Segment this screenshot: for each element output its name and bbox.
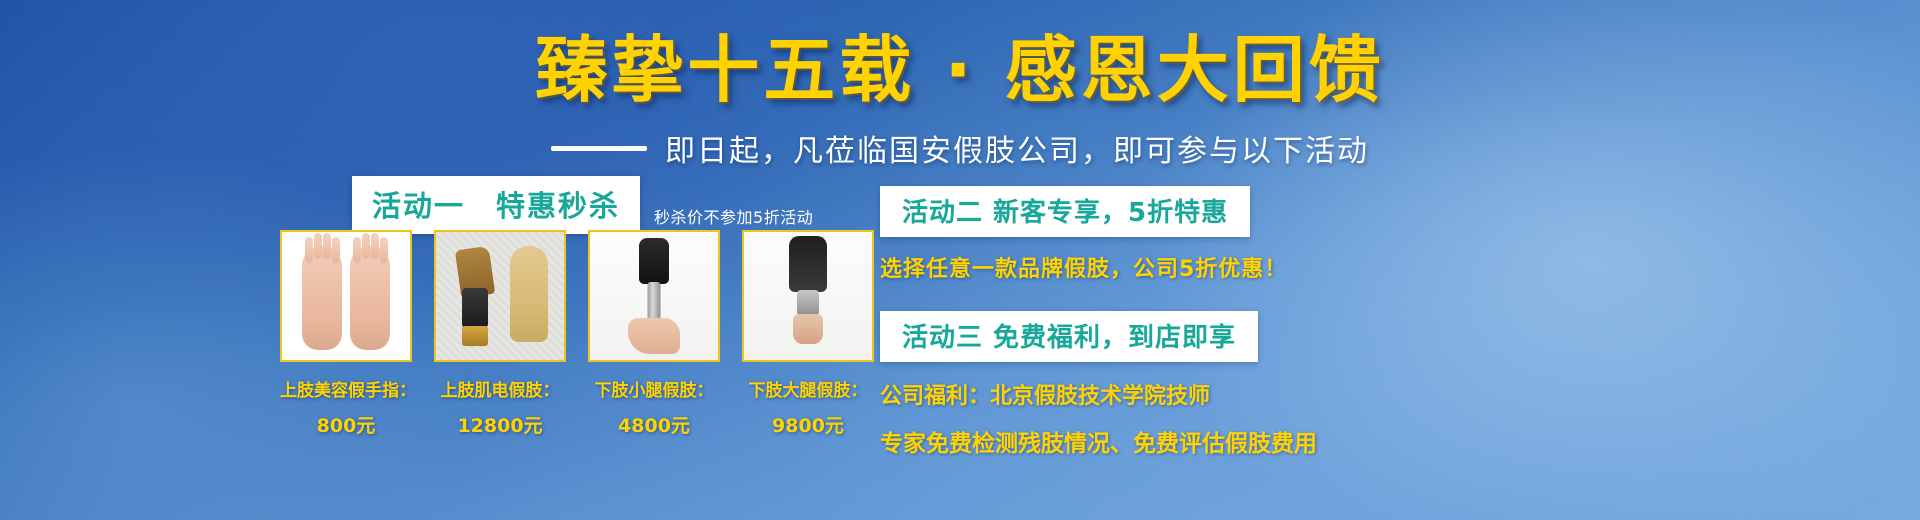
activity-two-description: 选择任意一款品牌假肢，公司5折优惠！ — [880, 251, 1440, 283]
product-label: 下肢大腿假肢： — [742, 376, 874, 401]
above-knee-leg-photo — [742, 230, 874, 362]
promotional-banner: 臻挚十五载 · 感恩大回馈 即日起，凡莅临国安假肢公司，即可参与以下活动 活动一… — [0, 0, 1920, 520]
right-hand-shape — [350, 246, 390, 350]
activity-three-benefit-line-1: 公司福利：北京假肢技术学院技师 — [880, 378, 1440, 410]
leg-illustration — [590, 232, 718, 360]
activity-one-header-row: 活动一 特惠秒杀 秒杀价不参加5折活动 — [352, 176, 892, 234]
product-item[interactable]: 上肢美容假手指： 800元 — [280, 230, 412, 438]
activity-one-section: 活动一 特惠秒杀 秒杀价不参加5折活动 — [352, 176, 892, 234]
activity-three-title-box: 活动三 免费福利，到店即享 — [880, 311, 1258, 362]
banner-subtitle-row: 即日起，凡莅临国安假肢公司，即可参与以下活动 — [0, 126, 1920, 170]
product-price: 9800元 — [742, 411, 874, 438]
left-hand-shape — [302, 246, 342, 350]
cosmetic-hands-photo — [280, 230, 412, 362]
myoelectric-arm-photo — [434, 230, 566, 362]
product-item[interactable]: 上肢肌电假肢： 12800元 — [434, 230, 566, 438]
banner-headline: 臻挚十五载 · 感恩大回馈 — [0, 34, 1920, 106]
product-label: 下肢小腿假肢： — [588, 376, 720, 401]
product-item[interactable]: 下肢大腿假肢： 9800元 — [742, 230, 874, 438]
activity-one-title-box: 活动一 特惠秒杀 — [352, 176, 640, 234]
activity-one-title: 活动一 特惠秒杀 — [372, 189, 620, 223]
product-list: 上肢美容假手指： 800元 上肢肌电假肢： 12800元 — [280, 230, 874, 438]
product-item[interactable]: 下肢小腿假肢： 4800元 — [588, 230, 720, 438]
product-price: 12800元 — [434, 411, 566, 438]
activity-three-title: 活动三 免费福利，到店即享 — [902, 323, 1236, 353]
activity-two-title-box: 活动二 新客专享，5折特惠 — [880, 186, 1250, 237]
hands-illustration — [282, 232, 410, 360]
arm-illustration — [436, 232, 564, 360]
activity-two-title: 活动二 新客专享，5折特惠 — [902, 198, 1228, 228]
product-price: 800元 — [280, 411, 412, 438]
subtitle-dash-icon — [551, 146, 647, 151]
product-label: 上肢肌电假肢： — [434, 376, 566, 401]
activity-three-benefit-line-2: 专家免费检测残肢情况、免费评估假肢费用 — [880, 424, 1440, 458]
banner-subtitle: 即日起，凡莅临国安假肢公司，即可参与以下活动 — [665, 126, 1369, 170]
product-price: 4800元 — [588, 411, 720, 438]
activities-right-section: 活动二 新客专享，5折特惠 选择任意一款品牌假肢，公司5折优惠！ 活动三 免费福… — [880, 186, 1440, 458]
below-knee-leg-photo — [588, 230, 720, 362]
product-label: 上肢美容假手指： — [280, 376, 412, 401]
thigh-leg-illustration — [744, 232, 872, 360]
